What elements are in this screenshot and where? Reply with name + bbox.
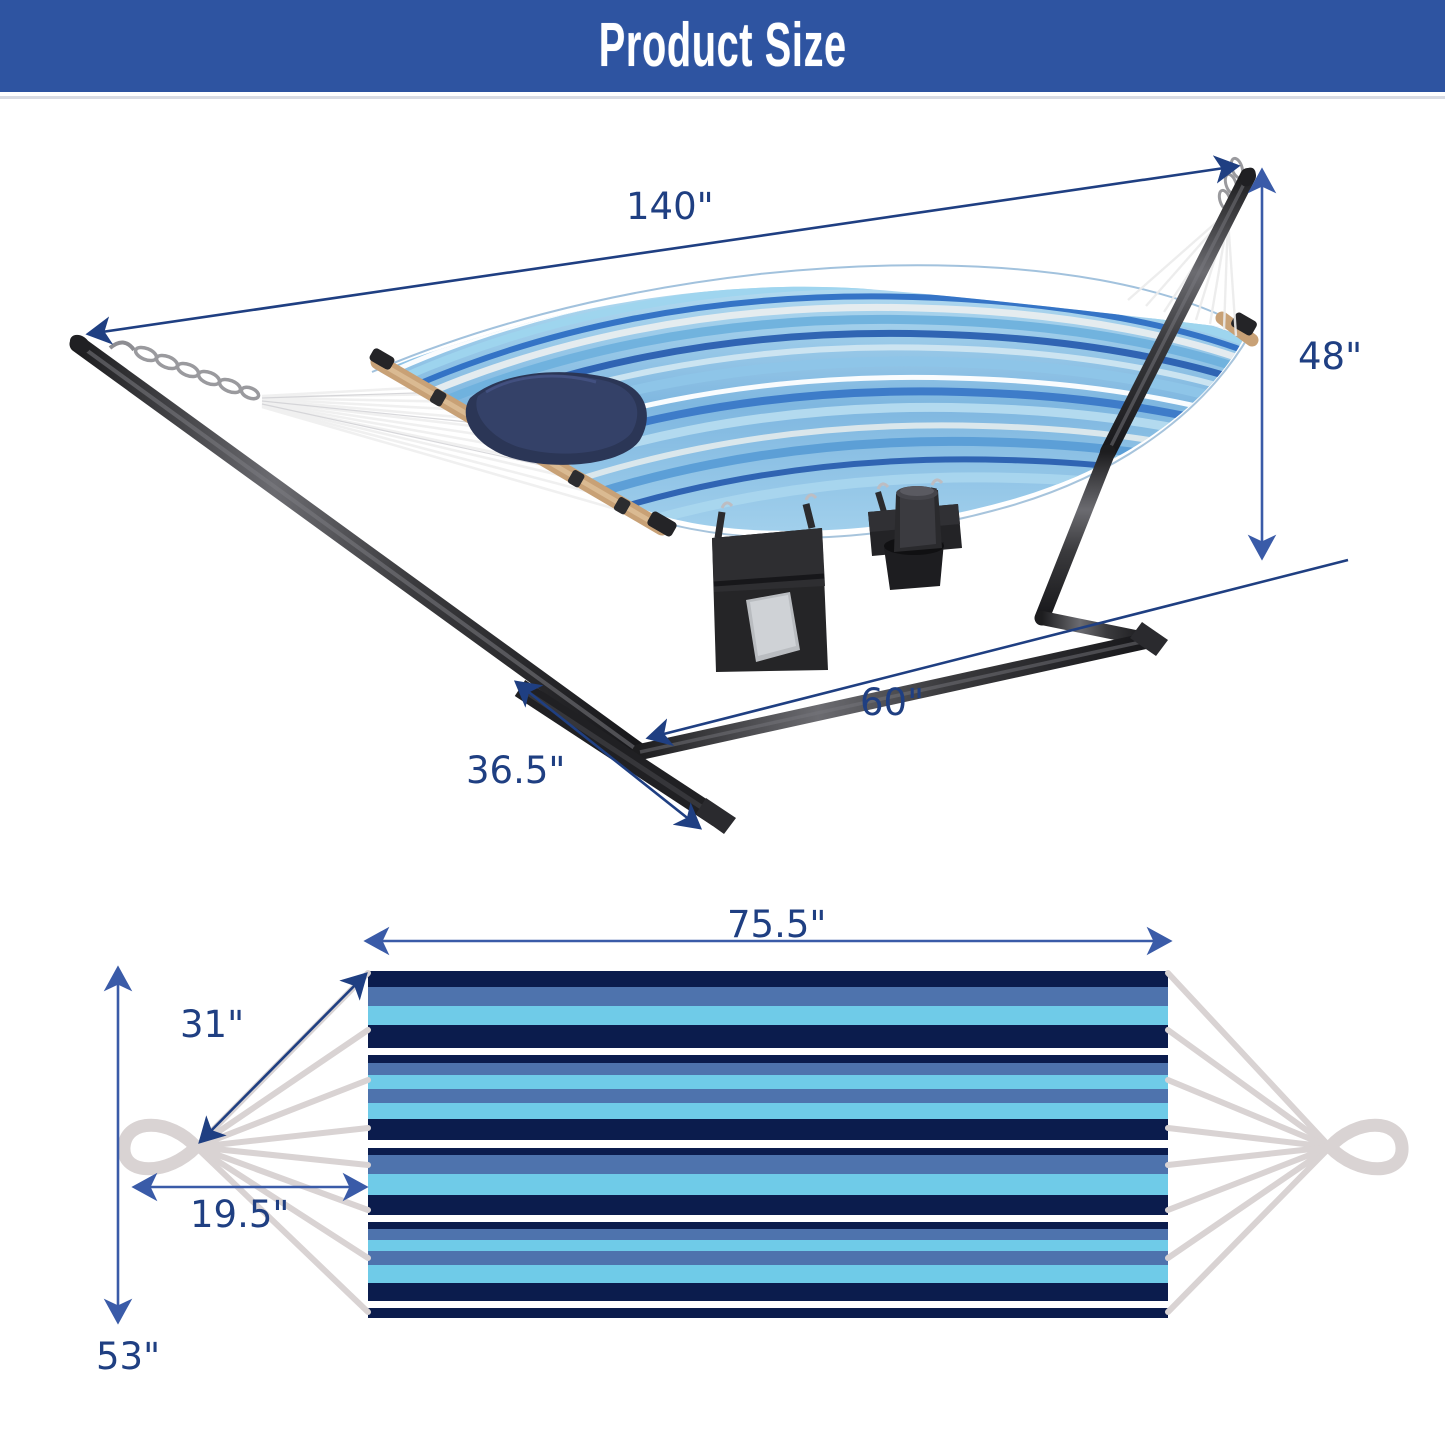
left-pole-assembly xyxy=(66,331,640,752)
page-title: Product Size xyxy=(598,15,846,77)
fabric-stripe xyxy=(368,1283,1168,1301)
hook-icon xyxy=(722,503,732,508)
dimension-label-60: 60" xyxy=(860,684,924,721)
dimension-line-60 xyxy=(648,560,1348,738)
right-leg xyxy=(1042,452,1150,640)
fabric-stripe xyxy=(368,1240,1168,1251)
fabric-stripe xyxy=(368,1055,1168,1062)
chain-right xyxy=(1217,157,1245,211)
rope-loop-left xyxy=(124,1125,196,1169)
spreader-bar-right xyxy=(1222,311,1258,340)
fabric-stripe xyxy=(368,1103,1168,1119)
phone xyxy=(746,592,800,662)
header-divider xyxy=(0,96,1445,99)
rope-loop-right xyxy=(1330,1125,1402,1169)
pillow xyxy=(466,372,647,465)
bed-top-edge xyxy=(372,265,1250,372)
hook-icon xyxy=(932,480,942,485)
fabric-stripe xyxy=(368,1265,1168,1283)
rope-fan-left-shadow xyxy=(262,388,610,480)
hook-icon xyxy=(806,495,816,500)
fabric-stripe xyxy=(368,971,1168,987)
right-pole xyxy=(1108,165,1259,452)
dimension-label-75-5: 75.5" xyxy=(727,906,826,943)
dimension-label-36-5: 36.5" xyxy=(466,752,565,789)
header-band: Product Size xyxy=(0,0,1445,92)
bed-bottom-edge xyxy=(618,334,1250,538)
dimension-label-48: 48" xyxy=(1298,338,1362,375)
hook-icon xyxy=(878,484,888,489)
fabric-stripe xyxy=(368,1075,1168,1089)
rope-fan-right xyxy=(1128,212,1236,336)
fabric-stripe xyxy=(368,1148,1168,1155)
cross-foot-right xyxy=(1130,622,1168,656)
fabric-stripe xyxy=(368,1140,1168,1147)
fabric-stripe xyxy=(368,987,1168,1006)
rope-fan-left xyxy=(262,380,626,512)
fabric-stripe xyxy=(368,1195,1168,1215)
fabric-stripe xyxy=(368,1025,1168,1048)
dimension-label-31: 31" xyxy=(180,1006,244,1043)
dimension-label-140: 140" xyxy=(626,188,714,225)
fabric-stripe xyxy=(368,1174,1168,1195)
fabric-stripe xyxy=(368,1048,1168,1055)
fabric-stripe xyxy=(368,1089,1168,1103)
fabric-stripe xyxy=(368,1229,1168,1240)
fabric-stripe xyxy=(368,1155,1168,1174)
fabric-stripe xyxy=(368,1119,1168,1140)
fabric-stripe xyxy=(368,1222,1168,1229)
fabric-stripe xyxy=(368,1063,1168,1075)
hammock-bed xyxy=(360,255,1370,580)
dimension-line-31 xyxy=(200,974,366,1142)
spreader-bar-left xyxy=(368,347,678,538)
product-size-infographic: Product Size xyxy=(0,0,1445,1445)
chain xyxy=(110,342,260,401)
fabric-stripe xyxy=(368,1251,1168,1265)
cup-holder xyxy=(868,480,962,590)
rope-fan-flat-right xyxy=(1168,973,1330,1312)
fabric-stripe xyxy=(368,1215,1168,1222)
dimension-label-53: 53" xyxy=(96,1338,160,1375)
fabric-stripe xyxy=(368,1308,1168,1318)
fabric-swatch xyxy=(368,971,1168,1318)
fabric-stripe xyxy=(368,1006,1168,1025)
tumbler xyxy=(894,486,942,552)
fabric-stripe xyxy=(368,1301,1168,1308)
storage-pouch xyxy=(712,495,828,672)
dimension-label-19-5: 19.5" xyxy=(190,1196,289,1233)
